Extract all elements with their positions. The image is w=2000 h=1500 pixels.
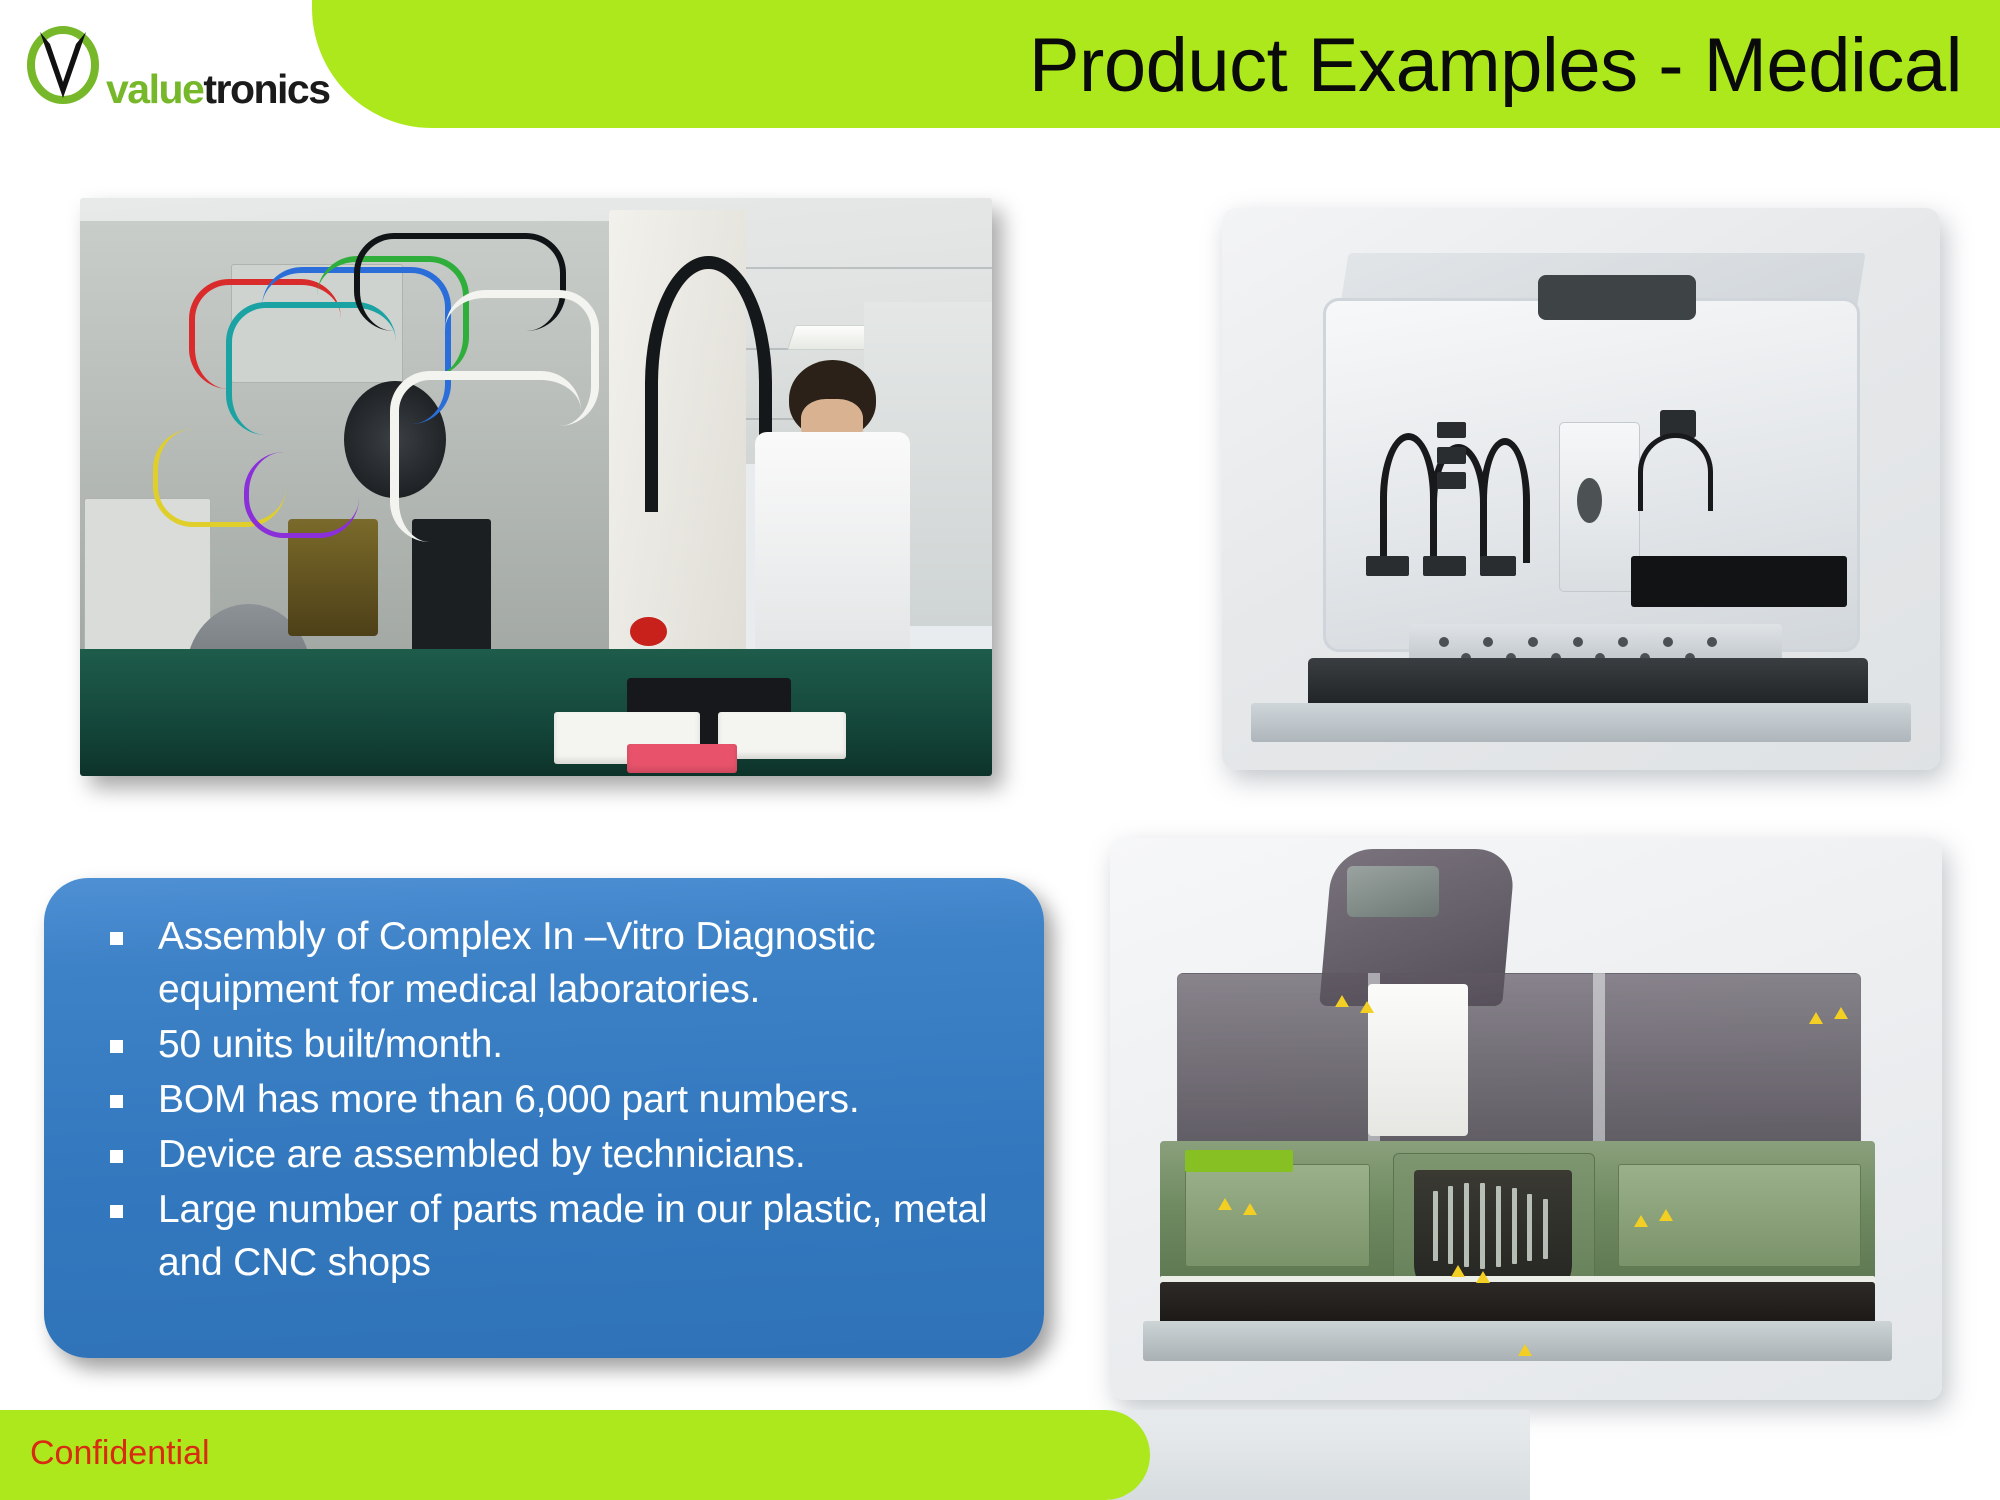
bullet-item: Assembly of Complex In –Vitro Diagnostic… bbox=[96, 910, 1020, 1016]
bullet-item: Device are assembled by technicians. bbox=[96, 1128, 1020, 1181]
bullet-callout-box: Assembly of Complex In –Vitro Diagnostic… bbox=[44, 878, 1044, 1358]
technician-worker bbox=[755, 360, 910, 661]
signal-cable bbox=[1638, 433, 1713, 511]
tube-clamp bbox=[1366, 556, 1409, 575]
warning-triangle-icon bbox=[1243, 1203, 1257, 1215]
factory-assembly-photo bbox=[80, 198, 992, 776]
cuvette bbox=[1480, 1183, 1485, 1269]
pipette-tube bbox=[1380, 433, 1437, 564]
sample-well bbox=[1618, 637, 1628, 647]
benchtop-analyzer-photo bbox=[1222, 208, 1940, 770]
tube-clamp bbox=[1423, 556, 1466, 575]
green-clinical-analyzer-photo bbox=[1110, 838, 1942, 1400]
white-tray bbox=[718, 712, 846, 758]
warning-triangle-icon bbox=[1451, 1265, 1465, 1277]
warning-triangle-icon bbox=[1335, 995, 1349, 1007]
red-sample-tray bbox=[627, 744, 736, 773]
tube-clamp bbox=[1480, 556, 1516, 575]
product-name-badge bbox=[1185, 1150, 1293, 1172]
warning-triangle-icon bbox=[1476, 1271, 1490, 1283]
cuvette bbox=[1527, 1194, 1532, 1261]
brand-logo[interactable]: valuetronics bbox=[18, 22, 318, 122]
reagent-bottle bbox=[1368, 984, 1468, 1136]
access-door-left bbox=[1185, 1164, 1370, 1267]
worker-lab-coat bbox=[755, 432, 910, 660]
page-title: Product Examples - Medical bbox=[1029, 20, 1962, 112]
smoked-access-cover bbox=[1177, 973, 1861, 1166]
tube-connector bbox=[1437, 422, 1466, 439]
green-workbench-surface bbox=[80, 649, 992, 776]
analyzer-dark-plinth bbox=[1160, 1282, 1876, 1327]
warning-triangle-icon bbox=[1218, 1198, 1232, 1210]
hood-display-window bbox=[1347, 866, 1439, 917]
cuvette bbox=[1433, 1191, 1438, 1261]
tubing-white bbox=[445, 290, 599, 425]
cuvette bbox=[1464, 1183, 1469, 1267]
pipette-tube bbox=[1480, 438, 1530, 563]
bullet-item: 50 units built/month. bbox=[96, 1018, 1020, 1071]
wire-purple bbox=[244, 452, 358, 538]
bullet-list: Assembly of Complex In –Vitro Diagnostic… bbox=[96, 910, 1020, 1291]
access-door-right bbox=[1618, 1164, 1861, 1267]
warning-triangle-icon bbox=[1634, 1215, 1648, 1227]
sample-well bbox=[1528, 637, 1538, 647]
black-flex-hose bbox=[645, 256, 771, 512]
warning-triangle-icon bbox=[1834, 1007, 1848, 1019]
sample-well bbox=[1483, 637, 1493, 647]
logo-word-tronics: tronics bbox=[203, 66, 329, 112]
analyzer-rail bbox=[1631, 556, 1846, 607]
analyzer-table-surface bbox=[1251, 703, 1912, 742]
warning-triangle-icon bbox=[1518, 1344, 1532, 1356]
cuvette bbox=[1543, 1199, 1548, 1258]
logo-word-value: value bbox=[106, 66, 203, 112]
slide-canvas: Product Examples - Medical valuetronics bbox=[0, 0, 2000, 1500]
cuvette bbox=[1448, 1186, 1453, 1264]
sample-well bbox=[1663, 637, 1673, 647]
header-green-band: Product Examples - Medical bbox=[312, 0, 2000, 128]
tube-connector bbox=[1437, 472, 1466, 489]
footer-photo-overlap bbox=[1110, 1410, 1530, 1500]
cuvette bbox=[1496, 1186, 1501, 1267]
warning-triangle-icon bbox=[1809, 1012, 1823, 1024]
tube-connector bbox=[1437, 447, 1466, 464]
footer-green-band: Confidential bbox=[0, 1410, 1150, 1500]
cuvette bbox=[1512, 1188, 1517, 1264]
sample-well bbox=[1707, 637, 1717, 647]
sample-well bbox=[1573, 637, 1583, 647]
logo-wordmark: valuetronics bbox=[106, 66, 330, 113]
sample-well bbox=[1439, 637, 1449, 647]
analyzer-top-cap bbox=[1538, 275, 1696, 320]
bullet-item: Large number of parts made in our plasti… bbox=[96, 1183, 1020, 1289]
arm-sensor-slot bbox=[1577, 478, 1601, 523]
warning-triangle-icon bbox=[1659, 1209, 1673, 1221]
confidential-label: Confidential bbox=[30, 1434, 210, 1473]
emergency-stop-button bbox=[627, 614, 669, 649]
cover-divider bbox=[1593, 973, 1605, 1164]
warning-triangle-icon bbox=[1360, 1001, 1374, 1013]
valuetronics-v-checkmark-icon bbox=[24, 24, 102, 104]
bullet-item: BOM has more than 6,000 part numbers. bbox=[96, 1073, 1020, 1126]
